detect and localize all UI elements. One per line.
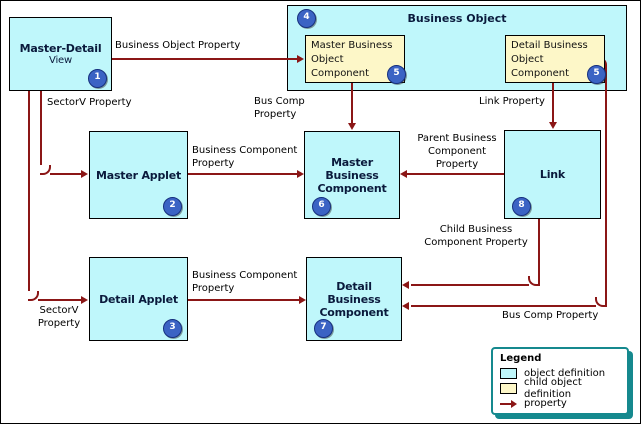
- edge-bus-comp-bottom-hline: [411, 305, 596, 307]
- master-business-component-title: Master Business Component: [305, 156, 399, 195]
- badge-detail-business-component: 7: [314, 319, 333, 338]
- badge-business-object: 4: [297, 9, 316, 28]
- label-link-property: Link Property: [479, 95, 549, 108]
- edge-bus-comp-top-vline: [351, 83, 353, 124]
- label-bus-comp-property-top: Bus Comp Property: [254, 95, 349, 121]
- object-definition-swatch: [500, 368, 517, 379]
- business-object-title: Business Object: [288, 12, 626, 25]
- edge-sectorv-detail-arrowhead: [81, 296, 88, 304]
- edge-bcp-master-arrowhead: [297, 170, 304, 178]
- edge-parent-bcp-arrowhead: [400, 170, 407, 178]
- label-business-component-property-master: Business Component Property: [192, 144, 304, 170]
- edge-bus-comp-bottom-vline: [605, 67, 607, 305]
- edge-child-bcp-elbow: [528, 276, 540, 286]
- legend-item-child-object-definition: child object definition: [500, 381, 627, 396]
- edge-sectorv-detail-hline: [38, 299, 82, 301]
- edge-child-bcp-arrowhead: [402, 281, 409, 289]
- badge-master-business-object-component: 5: [387, 65, 406, 84]
- master-detail-view-title: Master-Detail View: [17, 42, 105, 67]
- dboc-line-2: Object: [511, 53, 604, 67]
- label-business-component-property-detail: Business Component Property: [192, 269, 304, 295]
- diagram-canvas: Business Object 4 Master Business Object…: [0, 0, 641, 424]
- edge-bus-comp-top-arrowhead: [348, 123, 356, 130]
- edge-link-property-vline: [552, 83, 554, 123]
- mboc-line-2: Object: [311, 53, 404, 67]
- master-detail-view-title-text: Master-Detail: [20, 42, 102, 55]
- detail-business-component-title: Detail Business Component: [307, 280, 401, 319]
- badge-detail-applet: 3: [163, 319, 182, 338]
- edge-sectorv-master-hline: [50, 173, 82, 175]
- label-parent-business-component-property: Parent Business Component Property: [411, 132, 503, 171]
- label-bus-comp-property-bottom: Bus Comp Property: [502, 309, 612, 322]
- detail-applet-title: Detail Applet: [96, 293, 181, 306]
- edge-link-property-arrowhead: [549, 122, 557, 129]
- link-title: Link: [537, 168, 568, 181]
- edge-bus-comp-bottom-arrowhead: [402, 302, 409, 310]
- legend-label-property: property: [524, 398, 567, 410]
- master-applet-title: Master Applet: [93, 169, 184, 182]
- edge-sectorv-master-arrowhead: [81, 170, 88, 178]
- label-sectorv-property-top: SectorV Property: [47, 96, 187, 109]
- edge-business-object-property-line: [112, 58, 297, 60]
- edge-child-bcp-hline: [411, 284, 529, 286]
- edge-bcp-detail-line: [188, 299, 300, 301]
- mboc-line-1: Master Business: [311, 39, 404, 53]
- badge-master-applet: 2: [163, 197, 182, 216]
- badge-detail-business-object-component: 5: [587, 65, 606, 84]
- label-sectorv-property-bottom: SectorV Property: [33, 304, 85, 330]
- legend-title: Legend: [500, 353, 627, 364]
- edge-bcp-master-line: [188, 173, 298, 175]
- edge-business-object-property-arrowhead: [297, 55, 304, 63]
- badge-master-detail-view: 1: [88, 69, 107, 88]
- master-detail-view-subtitle: View: [20, 55, 102, 67]
- edge-sectorv-detail-vline: [28, 91, 30, 291]
- property-arrow-swatch: [500, 398, 517, 409]
- child-object-definition-swatch: [500, 383, 517, 394]
- edge-child-bcp-vline: [538, 219, 540, 284]
- edge-sectorv-master-vline: [40, 91, 42, 165]
- edge-bus-comp-bottom-elbow: [595, 297, 607, 307]
- legend-box: Legend object definition child object de…: [491, 347, 629, 415]
- dboc-line-1: Detail Business: [511, 39, 604, 53]
- edge-bcp-detail-arrowhead: [299, 296, 306, 304]
- label-business-object-property: Business Object Property: [115, 39, 295, 52]
- badge-master-business-component: 6: [312, 197, 331, 216]
- badge-link: 8: [512, 197, 531, 216]
- label-child-business-component-property: Child Business Component Property: [416, 223, 536, 249]
- edge-parent-bcp-line: [407, 173, 504, 175]
